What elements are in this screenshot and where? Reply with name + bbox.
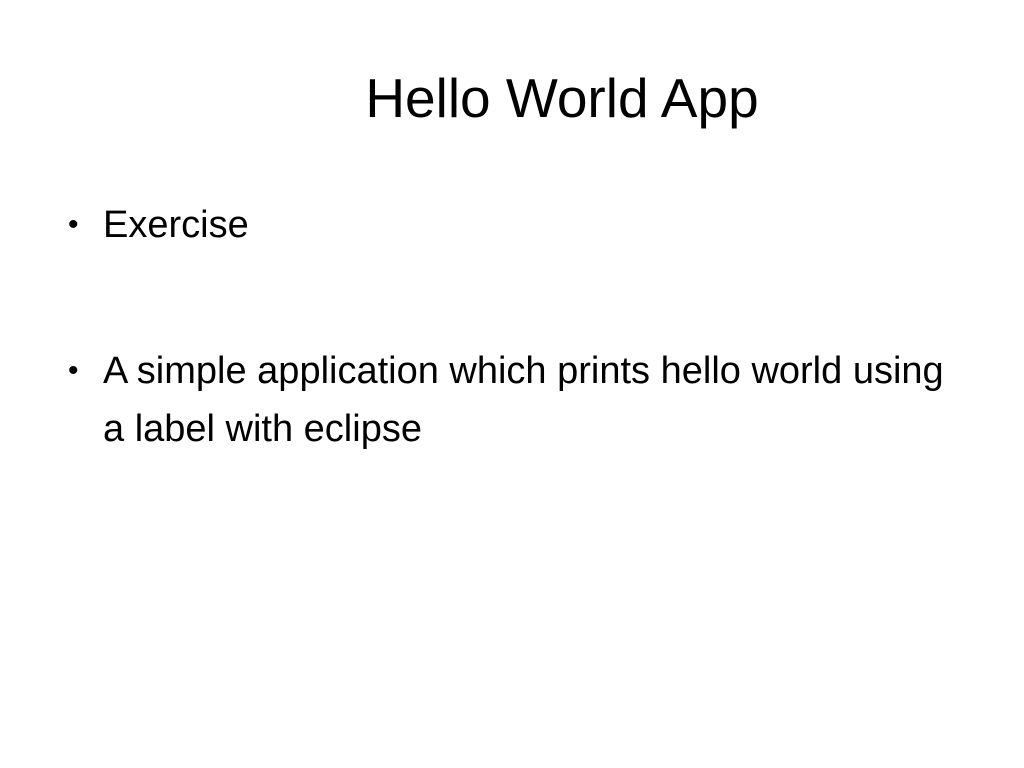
bullet-list: • Exercise • A simple application which … [62,196,974,458]
list-item-label: Exercise [103,196,974,254]
list-item-label: A simple application which prints hello … [103,342,974,458]
presentation-slide: Hello World App • Exercise • A simple ap… [0,0,1024,768]
page-title: Hello World App [0,66,1024,130]
bullet-dot-icon: • [68,342,88,400]
slide-body: • Exercise • A simple application which … [62,196,974,458]
bullet-dot-icon: • [68,196,88,254]
list-item: • A simple application which prints hell… [62,342,974,458]
list-item: • Exercise [62,196,974,254]
